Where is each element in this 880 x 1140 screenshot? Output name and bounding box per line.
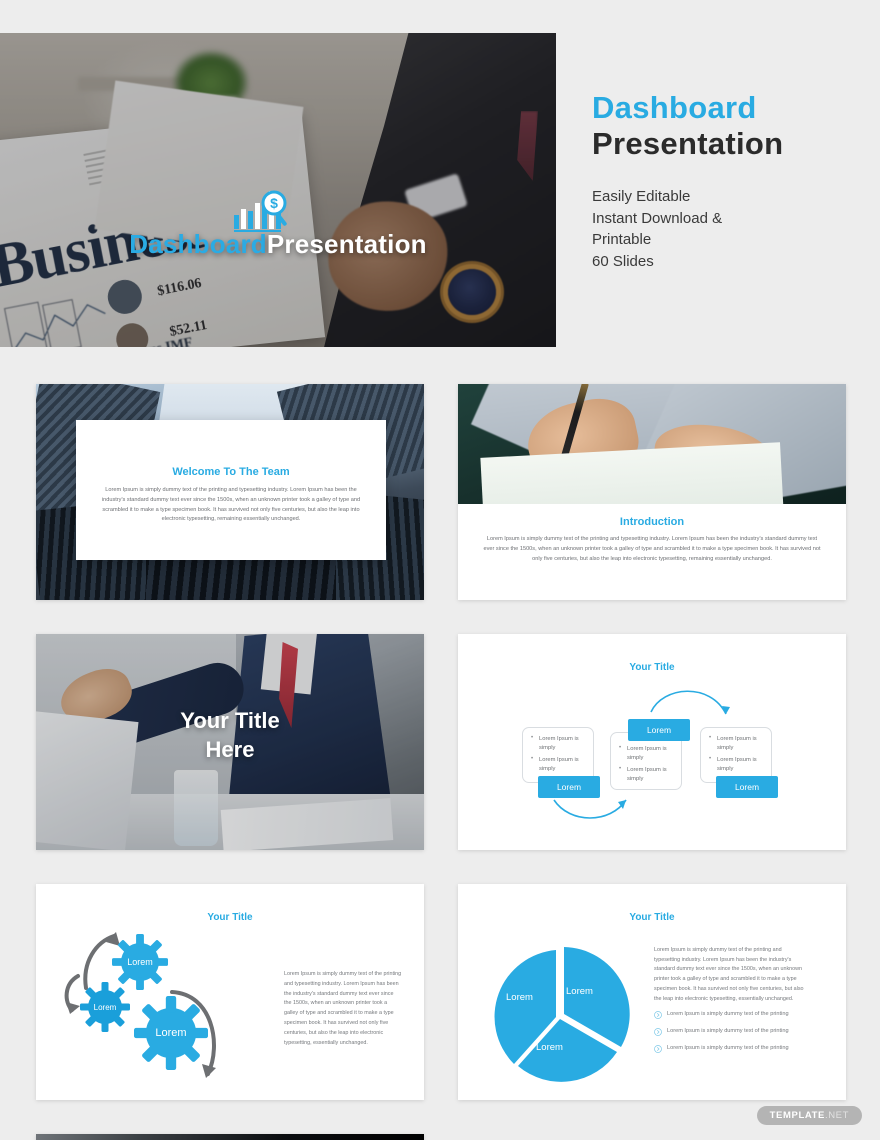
hero-overlay-title-white: Presentation bbox=[267, 229, 427, 259]
chevron-right-circle-icon bbox=[654, 1045, 662, 1053]
gear-icon[interactable]: Lorem bbox=[134, 996, 208, 1070]
slide-thumbnail-partial[interactable] bbox=[36, 1134, 424, 1140]
slide-title: Introduction bbox=[482, 516, 822, 528]
pie-chart bbox=[484, 942, 634, 1092]
watermark-dim: .NET bbox=[825, 1110, 849, 1121]
template-net-watermark: TEMPLATE.NET bbox=[757, 1106, 862, 1125]
slide-thumbnail-gears[interactable]: Your Title bbox=[36, 884, 424, 1100]
feature-item: Printable bbox=[592, 229, 872, 251]
list-item[interactable]: Lorem Ipsum is simply dummy text of the … bbox=[654, 1027, 814, 1036]
list-item[interactable]: Lorem Ipsum is simply dummy text of the … bbox=[654, 1010, 814, 1019]
slide-thumbnail-pie-chart[interactable]: Your Title Lorem Lorem Lorem Lorem Ipsum… bbox=[458, 884, 846, 1100]
list-item-label: Lorem Ipsum is simply dummy text of the … bbox=[667, 1044, 789, 1053]
card-tag[interactable]: Lorem bbox=[716, 776, 778, 798]
slide-body: Lorem Ipsum is simply dummy text of the … bbox=[654, 946, 804, 1004]
gear-label: Lorem bbox=[80, 982, 130, 1032]
chevron-right-circle-icon bbox=[654, 1028, 662, 1036]
svg-text:$: $ bbox=[270, 195, 278, 211]
slide-thumbnail-process-cards[interactable]: Your Title Lorem Ipsum is simply Lorem I… bbox=[458, 634, 846, 850]
welcome-card: Welcome To The Team Lorem Ipsum is simpl… bbox=[76, 420, 386, 560]
feature-item: Easily Editable bbox=[592, 186, 872, 208]
pie-slice-label: Lorem bbox=[566, 986, 593, 997]
template-preview-page: Business $116.06 $52.11 a new global cri… bbox=[0, 0, 880, 1140]
slide-thumbnail-introduction[interactable]: Introduction Lorem Ipsum is simply dummy… bbox=[458, 384, 846, 600]
slide-thumbnail-welcome[interactable]: Welcome To The Team Lorem Ipsum is simpl… bbox=[36, 384, 424, 600]
card-tag[interactable]: Lorem bbox=[628, 719, 690, 741]
card-bullet: Lorem Ipsum is simply bbox=[709, 735, 763, 753]
slide-body: Lorem Ipsum is simply dummy text of the … bbox=[94, 486, 368, 525]
card-tag[interactable]: Lorem bbox=[538, 776, 600, 798]
process-card[interactable]: Lorem Ipsum is simply Lorem Ipsum is sim… bbox=[522, 727, 594, 783]
list-item-label: Lorem Ipsum is simply dummy text of the … bbox=[667, 1027, 789, 1036]
product-header: Dashboard Presentation Easily Editable I… bbox=[592, 90, 872, 273]
pie-slice-label: Lorem bbox=[506, 992, 533, 1003]
list-item[interactable]: Lorem Ipsum is simply dummy text of the … bbox=[654, 1044, 814, 1053]
slide-title-line2: Here bbox=[36, 735, 424, 764]
card-bullet: Lorem Ipsum is simply bbox=[619, 766, 673, 784]
list-item-label: Lorem Ipsum is simply dummy text of the … bbox=[667, 1010, 789, 1019]
feature-item: 60 Slides bbox=[592, 251, 872, 273]
introduction-text-block: Introduction Lorem Ipsum is simply dummy… bbox=[482, 516, 822, 564]
slide-thumbnail-your-title-here[interactable]: Your Title Here bbox=[36, 634, 424, 850]
card-bullet: Lorem Ipsum is simply bbox=[531, 735, 585, 753]
feature-item: Instant Download & bbox=[592, 208, 872, 230]
hero-cover-slide[interactable]: Business $116.06 $52.11 a new global cri… bbox=[0, 33, 556, 347]
pie-bullet-list: Lorem Ipsum is simply dummy text of the … bbox=[654, 1010, 814, 1061]
page-title-line1: Dashboard bbox=[592, 90, 872, 126]
slide-title-line1: Your Title bbox=[36, 706, 424, 735]
slide-title: Welcome To The Team bbox=[76, 466, 386, 478]
slide-title: Your Title Here bbox=[36, 706, 424, 764]
watermark-bold: TEMPLATE bbox=[770, 1110, 825, 1121]
process-card[interactable]: Lorem Ipsum is simply Lorem Ipsum is sim… bbox=[700, 727, 772, 783]
slide-body: Lorem Ipsum is simply dummy text of the … bbox=[284, 970, 402, 1049]
gear-label: Lorem bbox=[134, 996, 208, 1070]
hero-overlay-title: DashboardPresentation bbox=[0, 229, 556, 260]
pie-slice-label: Lorem bbox=[536, 1042, 563, 1053]
chevron-right-circle-icon bbox=[654, 1011, 662, 1019]
card-bullet: Lorem Ipsum is simply bbox=[531, 756, 585, 774]
hand-writing-photo bbox=[458, 384, 846, 504]
card-bullet: Lorem Ipsum is simply bbox=[619, 745, 673, 763]
hero-overlay-title-blue: Dashboard bbox=[129, 229, 267, 259]
gear-icon[interactable]: Lorem bbox=[80, 982, 130, 1032]
product-features: Easily Editable Instant Download & Print… bbox=[592, 186, 872, 273]
slide-title: Your Title bbox=[458, 912, 846, 923]
page-title-line2: Presentation bbox=[592, 126, 872, 162]
slide-body: Lorem Ipsum is simply dummy text of the … bbox=[482, 535, 822, 564]
card-bullet: Lorem Ipsum is simply bbox=[709, 756, 763, 774]
